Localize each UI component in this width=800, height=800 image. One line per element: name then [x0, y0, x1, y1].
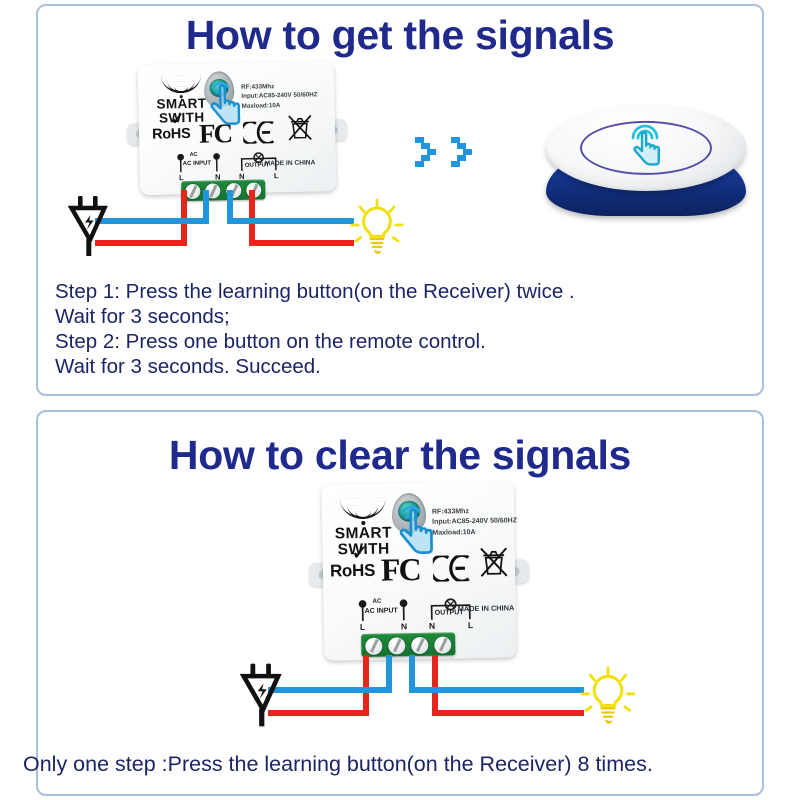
crossed-out-bin-icon [287, 113, 314, 142]
terminal-screw[interactable] [434, 636, 451, 653]
page-title-get-signals: How to get the signals [38, 12, 762, 59]
touch-hand-icon [623, 122, 669, 170]
page-title-clear-signals: How to clear the signals [38, 432, 762, 479]
wire-source-neutral [95, 218, 209, 224]
wire-source-neutral [268, 687, 392, 693]
wifi-signal-icon [161, 75, 201, 98]
instructions-clear-signals: Only one step :Press the learning button… [23, 752, 653, 777]
fcc-label: FC [199, 118, 232, 150]
power-plug-icon [240, 663, 286, 729]
crossed-out-bin-icon [479, 545, 510, 579]
power-plug-icon [68, 196, 112, 258]
rohs-label: RoHS [330, 561, 375, 582]
ce-label [433, 555, 471, 582]
terminal-screw[interactable] [185, 184, 200, 199]
wire-input-live [363, 655, 369, 716]
receiver-device-2[interactable]: SMART SWITH RF:433Mhz Input:AC85-240V 50… [321, 481, 516, 660]
made-in-label: MADE IN CHINA [458, 603, 515, 613]
instructions-get-signals: Step 1: Press the learning button(on the… [55, 279, 575, 379]
wire-load-live [249, 240, 354, 246]
rohs-label: RoHS [152, 126, 191, 143]
remote-top-surface[interactable] [546, 104, 746, 191]
receiver-device-1[interactable]: SMART SWITH RF:433Mhz Input:AC85-240V 50… [138, 61, 337, 195]
terminal-legend: AC AC INPUT OUTPUT L N N L [353, 596, 500, 633]
fcc-label: FC [381, 551, 420, 589]
wireless-remote-control[interactable] [546, 104, 746, 216]
wire-load-live [432, 710, 584, 716]
receiver-specs: RF:433Mhz Input:AC85-240V 50/60HZ Maxloa… [241, 81, 318, 111]
ce-label [243, 121, 275, 144]
double-chevron-right-icon [413, 133, 491, 177]
light-bulb-icon [348, 198, 406, 260]
wire-output-live [432, 655, 438, 716]
receiver-specs: RF:433Mhz Input:AC85-240V 50/60HZ Maxloa… [432, 506, 517, 539]
terminal-screw[interactable] [388, 637, 405, 654]
wire-load-neutral [227, 218, 354, 224]
terminal-screw[interactable] [411, 636, 428, 653]
terminal-block[interactable] [361, 632, 455, 657]
wifi-signal-icon [340, 498, 386, 525]
terminal-screw[interactable] [365, 637, 382, 654]
wire-load-neutral [409, 687, 584, 693]
made-in-label: MADE IN CHINA [265, 159, 316, 167]
light-bulb-icon [578, 666, 638, 730]
